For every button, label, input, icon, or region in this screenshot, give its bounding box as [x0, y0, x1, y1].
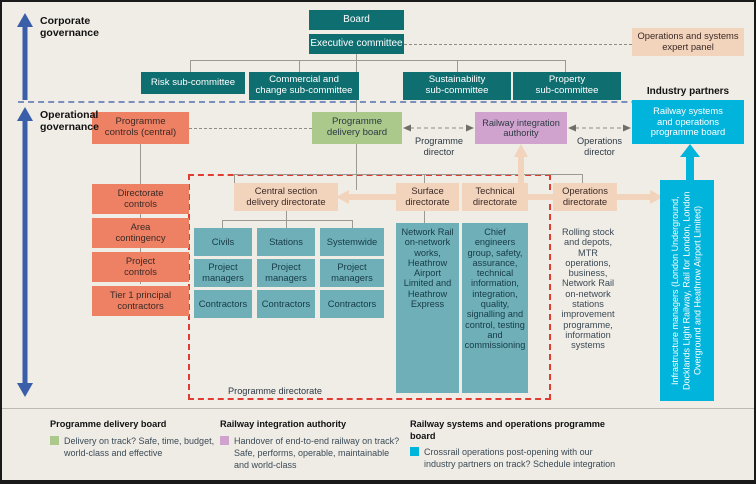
directorate-bus-line	[234, 174, 582, 175]
directorate-controls-line2: controls	[124, 199, 157, 210]
railway-integration-line1: Railway integration	[482, 118, 560, 128]
risk-subcommittee-label: Risk sub-committee	[151, 78, 235, 89]
technical-directorate-box[interactable]: Technical directorate	[462, 183, 528, 211]
civils-pm-line2: managers	[202, 273, 244, 284]
operational-governance-line2: governance	[40, 121, 99, 133]
subcommittee-bus-line	[190, 60, 565, 61]
civils-contractors-label: Contractors	[199, 299, 247, 310]
operations-directorate-line2: directorate	[563, 197, 607, 208]
stations-contractors-label: Contractors	[262, 299, 310, 310]
surface-directorate-box[interactable]: Surface directorate	[396, 183, 459, 211]
systemwide-label: Systemwide	[327, 237, 378, 248]
stations-label: Stations	[269, 237, 303, 248]
project-controls-box[interactable]: Project controls	[92, 252, 189, 282]
programme-delivery-board-line2: delivery board	[327, 128, 387, 139]
stations-project-managers-box[interactable]: Project managers	[257, 259, 315, 287]
legend-title-1: Railway integration authority	[220, 419, 405, 431]
corporate-governance-arrow	[15, 12, 35, 100]
central-section-delivery-directorate-box[interactable]: Central section delivery directorate	[234, 183, 338, 211]
infrastructure-managers-text: Infrastructure managers (London Undergro…	[670, 186, 704, 395]
legend-title-0: Programme delivery board	[50, 419, 215, 431]
property-subcommittee-drop	[565, 60, 566, 72]
corporate-governance-line1: Corporate	[40, 15, 99, 27]
executive-committee-label: Executive committee	[310, 38, 402, 49]
directorates-to-central-arrow	[336, 190, 398, 204]
legend-text-0: Delivery on track? Safe, time, budget, w…	[64, 435, 215, 459]
civils-project-managers-box[interactable]: Project managers	[194, 259, 252, 287]
civils-label: Civils	[212, 237, 234, 248]
railway-integration-line2: authority	[503, 128, 538, 138]
systemwide-pm-line2: managers	[331, 273, 373, 284]
legend-row-0: Delivery on track? Safe, time, budget, w…	[50, 435, 215, 459]
surface-body-line	[424, 211, 425, 223]
area-contingency-box[interactable]: Area contingency	[92, 218, 189, 248]
programme-director-label: Programme director	[404, 136, 474, 157]
programme-controls-down-line	[140, 144, 141, 184]
directorate-controls-box[interactable]: Directorate controls	[92, 184, 189, 214]
risk-subcommittee-box[interactable]: Risk sub-committee	[141, 72, 245, 94]
technical-directorate-body[interactable]: Chief engineers group, safety, assurance…	[462, 223, 528, 393]
legend-row-2: Crossrail operations post-opening with o…	[410, 446, 620, 470]
surface-body-text: Network Rail on-network works, Heathrow …	[399, 227, 456, 309]
expert-panel-box[interactable]: Operations and systems expert panel	[632, 28, 744, 56]
legend-swatch-cyan	[410, 447, 419, 456]
legend-swatch-green	[50, 436, 59, 445]
operations-director-label: Operations director	[567, 136, 632, 157]
operations-to-infrastructure-arrow	[615, 190, 663, 204]
commercial-subcommittee-line2: change sub-committee	[255, 86, 352, 97]
controls-to-delivery-board-dash	[189, 128, 312, 129]
programme-delivery-board-box[interactable]: Programme delivery board	[312, 112, 402, 144]
stations-contractors-box[interactable]: Contractors	[257, 290, 315, 318]
programme-directorate-label: Programme directorate	[224, 386, 326, 397]
railway-integration-authority-box[interactable]: Railway integration authority	[475, 112, 567, 144]
legend-text-1: Handover of end-to-end railway on track?…	[234, 435, 405, 471]
corporate-governance-line2: governance	[40, 27, 99, 39]
area-contingency-line2: contingency	[115, 233, 165, 244]
programme-director-line2: director	[404, 147, 474, 158]
legend-title-2: Railway systems and operations programme…	[410, 419, 620, 442]
stations-drop	[286, 220, 287, 228]
board-box[interactable]: Board	[309, 10, 404, 30]
railway-systems-operations-board-box[interactable]: Railway systems and operations programme…	[632, 100, 744, 144]
project-controls-line2: controls	[124, 267, 157, 278]
operations-director-link	[567, 122, 632, 134]
civils-contractors-box[interactable]: Contractors	[194, 290, 252, 318]
commercial-subcommittee-drop	[299, 60, 300, 72]
systemwide-contractors-box[interactable]: Contractors	[320, 290, 384, 318]
operational-governance-arrow	[15, 106, 35, 398]
footer-rule	[2, 480, 754, 483]
diagram-root: Corporate governance Operational governa…	[0, 0, 756, 484]
industry-partners-label: Industry partners	[647, 86, 729, 97]
exec-to-expert-panel-dash	[404, 44, 632, 45]
legend-swatch-purple	[220, 436, 229, 445]
commercial-subcommittee-box[interactable]: Commercial and change sub-committee	[249, 72, 359, 100]
technical-to-operations-arrow	[526, 190, 555, 204]
legend-item-railway-systems-operations-board: Railway systems and operations programme…	[410, 419, 620, 470]
programme-director-line1: Programme	[404, 136, 474, 147]
property-subcommittee-box[interactable]: Property sub-committee	[513, 72, 621, 100]
legend-item-programme-delivery-board: Programme delivery board Delivery on tra…	[50, 419, 215, 459]
programme-directorate-text: Programme directorate	[228, 386, 322, 396]
operational-governance-line1: Operational	[40, 109, 99, 121]
stations-pm-line2: managers	[265, 273, 307, 284]
surface-directorate-line2: directorate	[405, 197, 449, 208]
systemwide-box[interactable]: Systemwide	[320, 228, 384, 256]
industry-partners-heading: Industry partners	[632, 86, 744, 98]
systemwide-drop	[352, 220, 353, 228]
governance-divider	[18, 101, 738, 103]
central-directorate-line2: delivery directorate	[246, 197, 325, 208]
tier1-line2: contractors	[117, 301, 163, 312]
property-subcommittee-line2: sub-committee	[536, 86, 599, 97]
operations-directorate-body: Rolling stock and depots, MTR operations…	[553, 223, 623, 393]
corporate-governance-label: Corporate governance	[40, 15, 99, 39]
sustainability-subcommittee-box[interactable]: Sustainability sub-committee	[403, 72, 511, 100]
executive-committee-box[interactable]: Executive committee	[309, 34, 404, 54]
diagram-stage: Corporate governance Operational governa…	[2, 2, 754, 482]
central-grid-bus-line	[222, 220, 352, 221]
infrastructure-to-board-arrow	[680, 144, 700, 182]
railway-systems-board-line3: programme board	[651, 127, 726, 138]
programme-controls-line2: controls (central)	[105, 128, 176, 139]
legend-row-1: Handover of end-to-end railway on track?…	[220, 435, 405, 471]
board-label: Board	[343, 14, 370, 25]
civils-box[interactable]: Civils	[194, 228, 252, 256]
tier1-principal-contractors-box[interactable]: Tier 1 principal contractors	[92, 286, 189, 316]
sustainability-subcommittee-line2: sub-committee	[426, 86, 489, 97]
civils-drop	[222, 220, 223, 228]
technical-directorate-line2: directorate	[473, 197, 517, 208]
systemwide-project-managers-box[interactable]: Project managers	[320, 259, 384, 287]
operations-directorate-box[interactable]: Operations directorate	[553, 183, 617, 211]
risk-subcommittee-drop	[190, 60, 191, 72]
operational-governance-label: Operational governance	[40, 109, 99, 133]
programme-controls-central-box[interactable]: Programme controls (central)	[92, 112, 189, 144]
infrastructure-managers-box[interactable]: Infrastructure managers (London Undergro…	[660, 180, 714, 401]
programme-director-link	[402, 122, 475, 134]
legend-item-railway-integration-authority: Railway integration authority Handover o…	[220, 419, 405, 471]
operations-body-text: Rolling stock and depots, MTR operations…	[555, 227, 621, 351]
expert-panel-line2: expert panel	[662, 42, 714, 53]
stations-box[interactable]: Stations	[257, 228, 315, 256]
operations-director-line1: Operations	[567, 136, 632, 147]
legend-text-2: Crossrail operations post-opening with o…	[424, 446, 620, 470]
sustainability-subcommittee-drop	[457, 60, 458, 72]
technical-body-text: Chief engineers group, safety, assurance…	[465, 227, 526, 351]
delivery-board-down-line	[356, 144, 357, 190]
legend: Programme delivery board Delivery on tra…	[2, 408, 754, 483]
operations-director-line2: director	[567, 147, 632, 158]
systemwide-contractors-label: Contractors	[328, 299, 376, 310]
surface-directorate-body[interactable]: Network Rail on-network works, Heathrow …	[396, 223, 459, 393]
